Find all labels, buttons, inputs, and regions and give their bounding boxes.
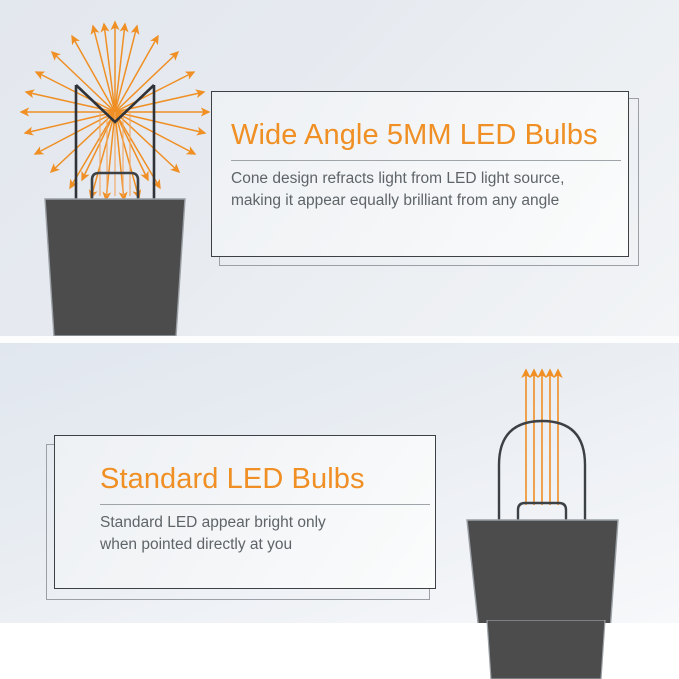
card-content: Wide Angle 5MM LED Bulbs Cone design ref…: [231, 120, 621, 212]
infographic-canvas: Wide Angle 5MM LED Bulbs Cone design ref…: [0, 0, 679, 679]
card-body-wide-angle: Cone design refracts light from LED ligh…: [231, 168, 621, 212]
standard-bulb-base-extension: [460, 620, 679, 679]
bulb-base-body: [45, 199, 185, 336]
bulb-base-body-lower: [487, 620, 605, 679]
card-wide-angle: Wide Angle 5MM LED Bulbs Cone design ref…: [205, 88, 645, 268]
card-title-wide-angle: Wide Angle 5MM LED Bulbs: [231, 120, 621, 152]
card-content: Standard LED Bulbs Standard LED appear b…: [100, 464, 430, 556]
card-title-standard: Standard LED Bulbs: [100, 464, 430, 496]
wide-angle-led-bulb-illustration: [8, 0, 228, 336]
card-standard: Standard LED Bulbs Standard LED appear b…: [45, 432, 445, 607]
panel-wide-angle: Wide Angle 5MM LED Bulbs Cone design ref…: [0, 0, 679, 336]
internal-beams: [100, 112, 130, 196]
card-divider-rule: [231, 160, 621, 161]
card-divider-rule: [100, 504, 430, 505]
panel-divider: [0, 336, 679, 343]
light-ray-arrows: [526, 370, 558, 505]
led-chip-outline: [518, 503, 566, 521]
card-body-standard: Standard LED appear bright only when poi…: [100, 512, 430, 556]
